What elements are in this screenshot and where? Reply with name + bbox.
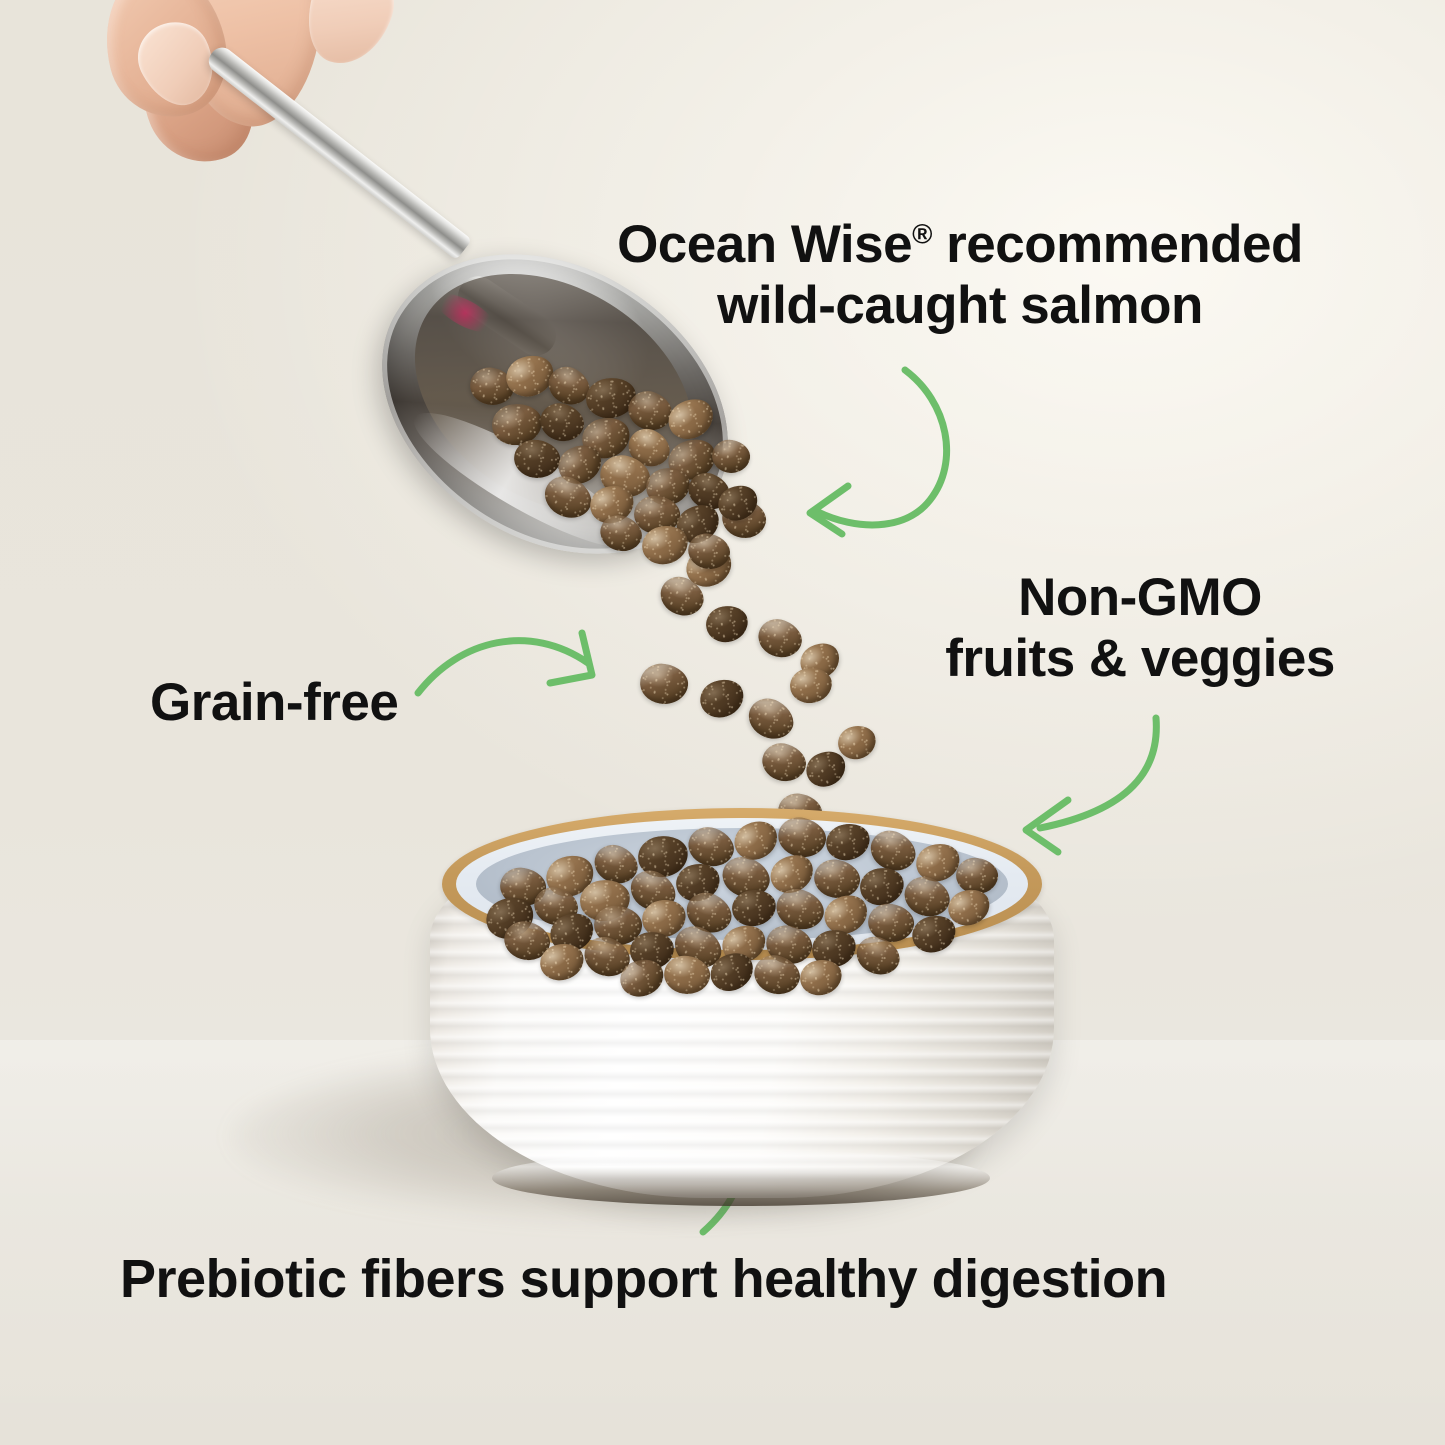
fingernail: [295, 0, 405, 75]
caption-ocean-wise-salmon: Ocean Wise® recommendedwild-caught salmo…: [560, 214, 1360, 337]
caption-non-gmo: Non-GMO fruits & veggies: [905, 567, 1375, 690]
arrow-to-non-gmo-icon: [1000, 690, 1190, 860]
caption-grain-free: Grain-free: [150, 672, 480, 733]
bowl-foot: [492, 1150, 990, 1206]
registered-trademark-symbol: ®: [912, 218, 932, 249]
caption-line-1: Ocean Wise® recommended: [617, 215, 1303, 274]
caption-line-2: wild-caught salmon: [717, 276, 1203, 335]
arrow-to-salmon-icon: [780, 350, 1000, 550]
caption-prebiotic-fibers: Prebiotic fibers support healthy digesti…: [120, 1248, 1330, 1311]
product-feature-image: Ocean Wise® recommendedwild-caught salmo…: [0, 0, 1445, 1445]
